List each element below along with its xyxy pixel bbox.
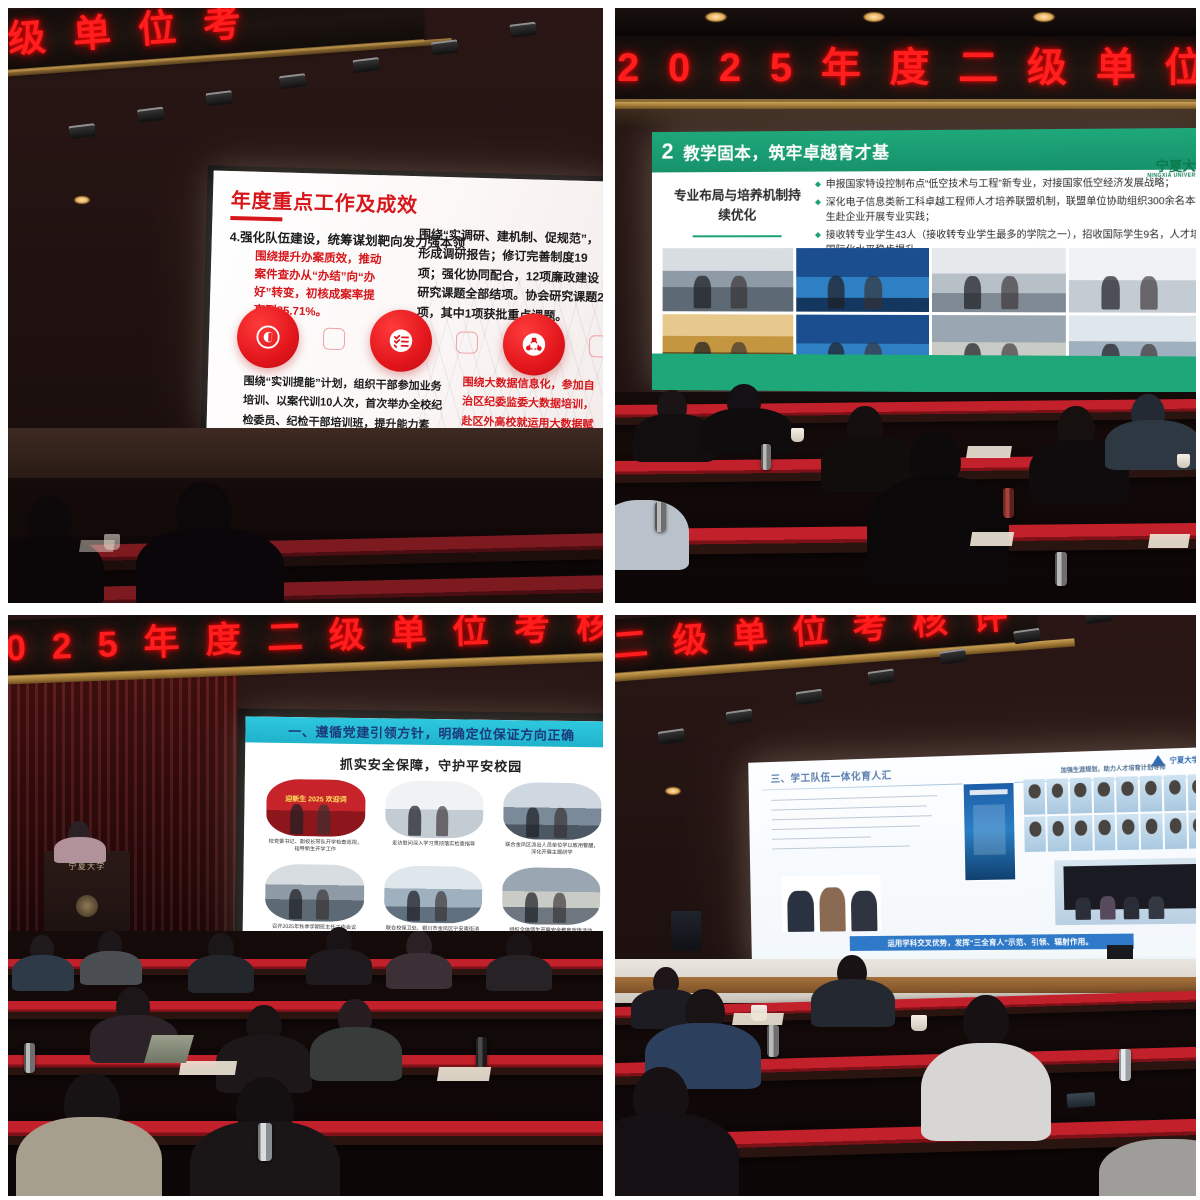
panel-top-right: 2 0 2 5 年 度 二 级 单 位 考 核 2 教学固本，筑牢卓越育才基 宁… <box>615 8 1196 603</box>
smartphone <box>1067 1092 1096 1108</box>
led-banner-text: 级 单 位 考 <box>8 8 251 60</box>
decor-square <box>323 328 346 351</box>
network-nodes-icon <box>502 313 566 377</box>
attendee-head <box>963 995 1009 1045</box>
attendee-body <box>310 1027 402 1081</box>
slide-text-block <box>771 794 945 857</box>
audience-area <box>615 959 1196 1196</box>
spotlight-icon <box>1013 628 1041 644</box>
portrait <box>1164 774 1186 811</box>
slide-photo <box>663 248 793 311</box>
paper <box>437 1067 491 1081</box>
laptop <box>144 1035 194 1063</box>
bottle <box>1003 488 1014 518</box>
bullet-item: 申报国家特设控制布点“低空技术与工程”新专业，对接国家低空经济发展战略； <box>815 177 1196 194</box>
panel-top-left: 级 单 位 考 年度重点工作及成效 4.强化队伍建设，统筹谋划靶向发力强本领 围… <box>8 8 603 603</box>
slide-icon-row <box>236 305 588 377</box>
panel-bottom-right: 二 级 单 位 考 核 评 三、学工队伍一体化育人汇 宁夏大学 <box>615 615 1196 1196</box>
ceremony-photo <box>781 874 881 932</box>
attendee-body <box>701 408 793 454</box>
audience-area <box>8 931 603 1196</box>
paper <box>179 1061 237 1075</box>
slide-photo <box>265 864 364 922</box>
lamp-icon <box>665 787 681 795</box>
poster-header <box>969 789 1007 796</box>
slide-subtitle: 抓实安全保障，守护平安校园 <box>245 752 603 776</box>
spotlight-icon <box>796 689 824 705</box>
portrait <box>1188 812 1196 849</box>
slide-photo <box>383 865 482 923</box>
attendee-body <box>1099 1139 1196 1196</box>
bottle <box>24 1043 35 1073</box>
slide-header-band: 2 教学固本，筑牢卓越育才基 <box>652 128 1196 172</box>
slide-photo <box>1069 248 1196 313</box>
portrait <box>1047 778 1069 814</box>
slide-photo: 迎新生 2025 欢迎词 <box>266 779 365 837</box>
slide-title: 三、学工队伍一体化育人汇 <box>770 766 891 785</box>
spotlight-icon <box>509 22 536 38</box>
left-label-underline <box>693 235 781 238</box>
photo-collage: 级 单 位 考 年度重点工作及成效 4.强化队伍建设，统筹谋划靶向发力强本领 围… <box>0 0 1200 1200</box>
slide-left-label: 专业布局与培养机制持续优化 <box>668 186 806 225</box>
portrait <box>1070 777 1092 813</box>
slide-photo-caption: 联合金凤区派出人员单位学以致用警醒，深化开展主题研学 <box>503 842 601 860</box>
slide-photo <box>502 867 601 925</box>
slide-grid-item: 迎新生 2025 欢迎词 校党委书记、副校长带队开学检查巡视，指导新生开学工作 <box>266 779 365 857</box>
spotlight-icon <box>939 648 967 664</box>
bullet-item: 深化电子信息类新工科卓越工程师人才培养联盟机制，联盟单位协助组织300余名本科生… <box>815 195 1196 226</box>
slide-student-work: 三、学工队伍一体化育人汇 宁夏大学 加强生涯规划，助力人才培育计划导师 <box>748 747 1196 970</box>
portrait <box>1140 775 1162 812</box>
spotlight-icon <box>69 123 96 139</box>
bottle <box>476 1037 487 1067</box>
award-photo <box>1054 858 1196 926</box>
bottle <box>655 502 666 532</box>
ceiling <box>615 8 1196 38</box>
bottle <box>1119 1049 1131 1081</box>
slide-header-title: 教学固本，筑牢卓越育才基 <box>683 138 889 164</box>
ceiling-light-icon <box>863 12 885 22</box>
bottle <box>258 1123 272 1161</box>
portrait <box>1117 814 1139 851</box>
cup <box>1177 454 1190 468</box>
attendee-body <box>811 979 895 1027</box>
poster-title <box>973 804 1006 855</box>
decor-square <box>456 331 479 354</box>
led-banner-text: 2 0 2 5 年 度 二 级 单 位 考 核 <box>615 48 1196 88</box>
portrait <box>1093 777 1115 814</box>
attendee-body <box>12 955 74 991</box>
ceiling-light-icon <box>705 12 727 22</box>
portrait <box>1024 816 1046 852</box>
paper <box>1148 534 1190 548</box>
slide-party-building: 一、遵循党建引领方针，明确定位保证方向正确 抓实安全保障，守护平安校园 迎新生 … <box>242 716 603 959</box>
panel-bottom-left: 0 2 5 年 度 二 级 单 位 考 核 评 一、遵循党建引领方针，明确定位保… <box>8 615 603 1196</box>
decor-square <box>589 335 603 358</box>
attendee-body <box>188 955 254 993</box>
slide-title: 年度重点工作及成效 <box>230 184 418 218</box>
av-rack <box>671 911 701 951</box>
attendee-body <box>16 1117 162 1196</box>
attendee-body <box>486 955 552 991</box>
attendee-body <box>921 1043 1051 1141</box>
bottle <box>767 1025 779 1057</box>
bottle <box>1055 552 1067 586</box>
spotlight-icon <box>726 709 754 725</box>
paper <box>966 446 1012 458</box>
attendee-body <box>136 528 284 603</box>
title-underline <box>230 216 282 221</box>
cup <box>911 1015 927 1031</box>
projection-screen-3: 一、遵循党建引领方针，明确定位保证方向正确 抓实安全保障，守护平安校园 迎新生 … <box>242 716 603 959</box>
lamp-icon <box>74 196 90 204</box>
spotlight-icon <box>867 668 895 684</box>
checklist-icon <box>369 309 433 373</box>
slide-photo <box>931 248 1065 313</box>
spotlight-icon <box>279 73 306 89</box>
spotlight-icon <box>431 39 458 55</box>
university-emblem-icon <box>76 895 98 917</box>
portrait <box>1024 779 1046 815</box>
portrait <box>1116 776 1138 813</box>
portrait <box>1164 813 1186 850</box>
paper <box>79 540 115 552</box>
projection-screen-4: 三、学工队伍一体化育人汇 宁夏大学 加强生涯规划，助力人才培育计划导师 <box>748 747 1196 970</box>
projection-screen-2: 2 教学固本，筑牢卓越育才基 宁夏大学 NINGXIA UNIVERSITY 专… <box>652 128 1196 394</box>
portrait <box>1187 774 1196 811</box>
slide-caption: 运用学科交叉优势，发挥“三全育人”示范、引领、辐射作用。 <box>850 933 1133 950</box>
faces-grid <box>1024 774 1196 853</box>
slide-grid-item: 联合金凤区派出人员单位学以致用警醒，深化开展主题研学 <box>503 782 602 860</box>
attendee-body <box>80 951 142 985</box>
portrait <box>1071 815 1093 851</box>
wall-trim <box>615 109 1196 127</box>
gold-rail <box>615 102 1196 109</box>
ceiling-light-icon <box>1033 12 1055 22</box>
portrait <box>1141 813 1163 850</box>
speaker-body <box>54 837 106 863</box>
attendee-body <box>386 953 452 989</box>
audience-area <box>615 392 1196 603</box>
slide-band-title: 一、遵循党建引领方针，明确定位保证方向正确 <box>288 721 575 744</box>
attendee-body <box>306 949 372 985</box>
attendee-body <box>615 500 689 570</box>
bottle <box>761 444 771 470</box>
cup <box>791 428 804 442</box>
attendee-body <box>867 476 1009 586</box>
paper <box>732 1013 784 1025</box>
slide-photo-grid: 迎新生 2025 欢迎词 校党委书记、副校长带队开学检查巡视，指导新生开学工作 … <box>265 779 602 946</box>
slide-teaching: 2 教学固本，筑牢卓越育才基 宁夏大学 NINGXIA UNIVERSITY 专… <box>652 128 1196 394</box>
slide-grid-item: 走访慰问深入学习贯彻落实检查指导 <box>384 780 483 858</box>
led-banner-top-right: 2 0 2 5 年 度 二 级 单 位 考 核 <box>615 36 1196 102</box>
slide-photo-caption: 校党委书记、副校长带队开学检查巡视，指导新生开学工作 <box>266 839 364 857</box>
spotlight-icon <box>658 728 686 744</box>
portrait <box>1094 815 1116 851</box>
slide-report: 年度重点工作及成效 4.强化队伍建设，统筹谋划靶向发力强本领 围绕提升办案质效，… <box>206 170 603 439</box>
thumb-overlay-text: 迎新生 2025 欢迎词 <box>275 794 358 808</box>
spotlight-icon <box>206 90 233 106</box>
slide-photo-caption: 走访慰问深入学习贯彻落实检查指导 <box>384 840 482 858</box>
spotlight-icon <box>353 57 380 73</box>
projection-screen-1: 年度重点工作及成效 4.强化队伍建设，统筹谋划靶向发力强本领 围绕提升办案质效，… <box>206 170 603 439</box>
slide-photo <box>385 780 484 838</box>
portrait <box>1047 816 1069 852</box>
audience-area <box>8 478 603 603</box>
slide-band: 一、遵循党建引领方针，明确定位保证方向正确 <box>245 716 603 747</box>
attendee-body <box>615 1113 739 1196</box>
section-number: 2 <box>662 141 674 163</box>
poster <box>962 782 1016 882</box>
slide-photo <box>503 782 602 840</box>
target-badge-icon <box>236 305 300 369</box>
slide-photo <box>796 248 928 312</box>
paper <box>970 532 1014 546</box>
spotlight-icon <box>137 107 164 123</box>
faces-label: 加强生涯规划，助力人才培育计划导师 <box>1024 761 1196 776</box>
desk-row <box>8 1001 603 1019</box>
